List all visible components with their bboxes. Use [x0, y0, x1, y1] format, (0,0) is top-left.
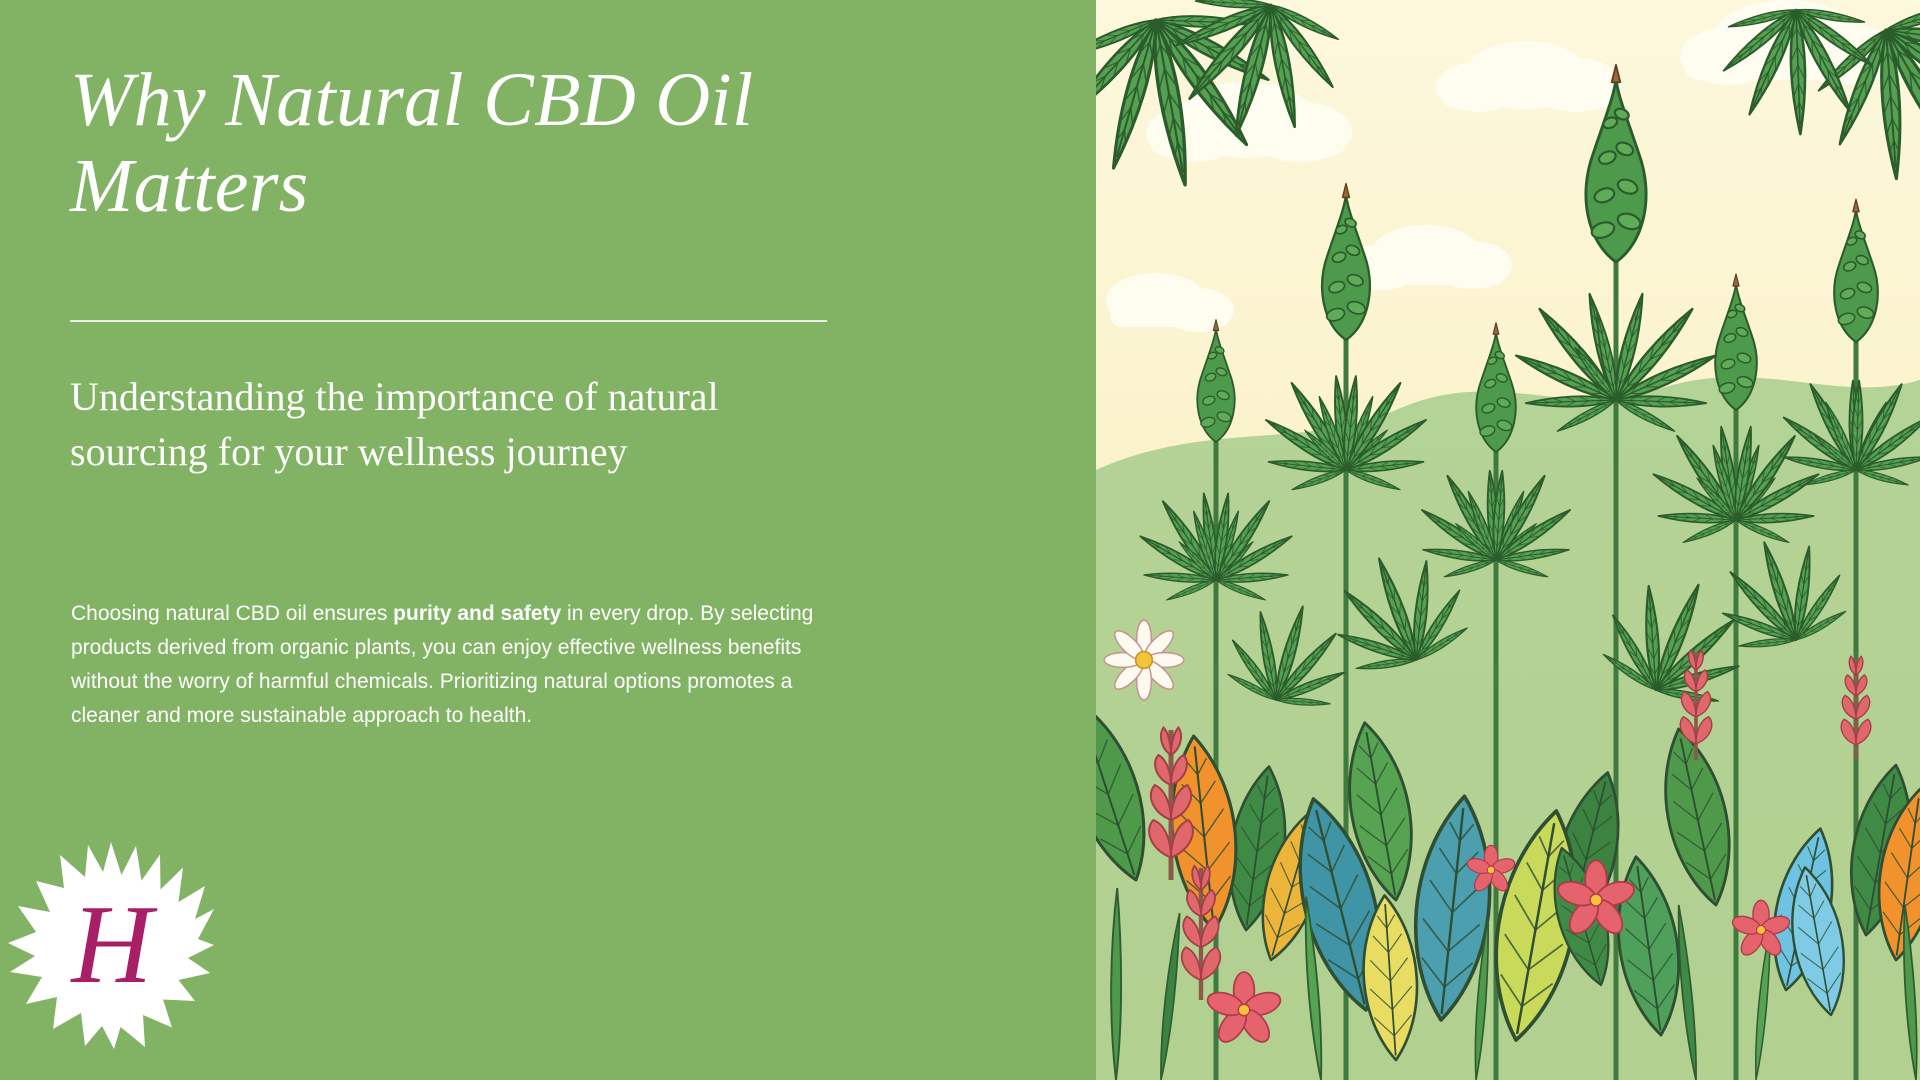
left-content-panel: Why Natural CBD Oil Matters Understandin… — [0, 0, 1096, 1080]
page-subtitle: Understanding the importance of natural … — [70, 370, 790, 480]
body-lead-text: Choosing natural CBD oil ensures — [71, 602, 393, 625]
body-emphasis-text: purity and safety — [393, 602, 561, 625]
daisy-flower — [1104, 620, 1184, 700]
brand-logo: H — [6, 840, 216, 1050]
body-paragraph: Choosing natural CBD oil ensures purity … — [71, 597, 831, 733]
title-divider — [70, 320, 827, 322]
botanical-illustration — [1096, 0, 1920, 1080]
page-title: Why Natural CBD Oil Matters — [70, 58, 870, 230]
logo-monogram: H — [70, 883, 158, 1007]
slide-root: Why Natural CBD Oil Matters Understandin… — [0, 0, 1920, 1080]
